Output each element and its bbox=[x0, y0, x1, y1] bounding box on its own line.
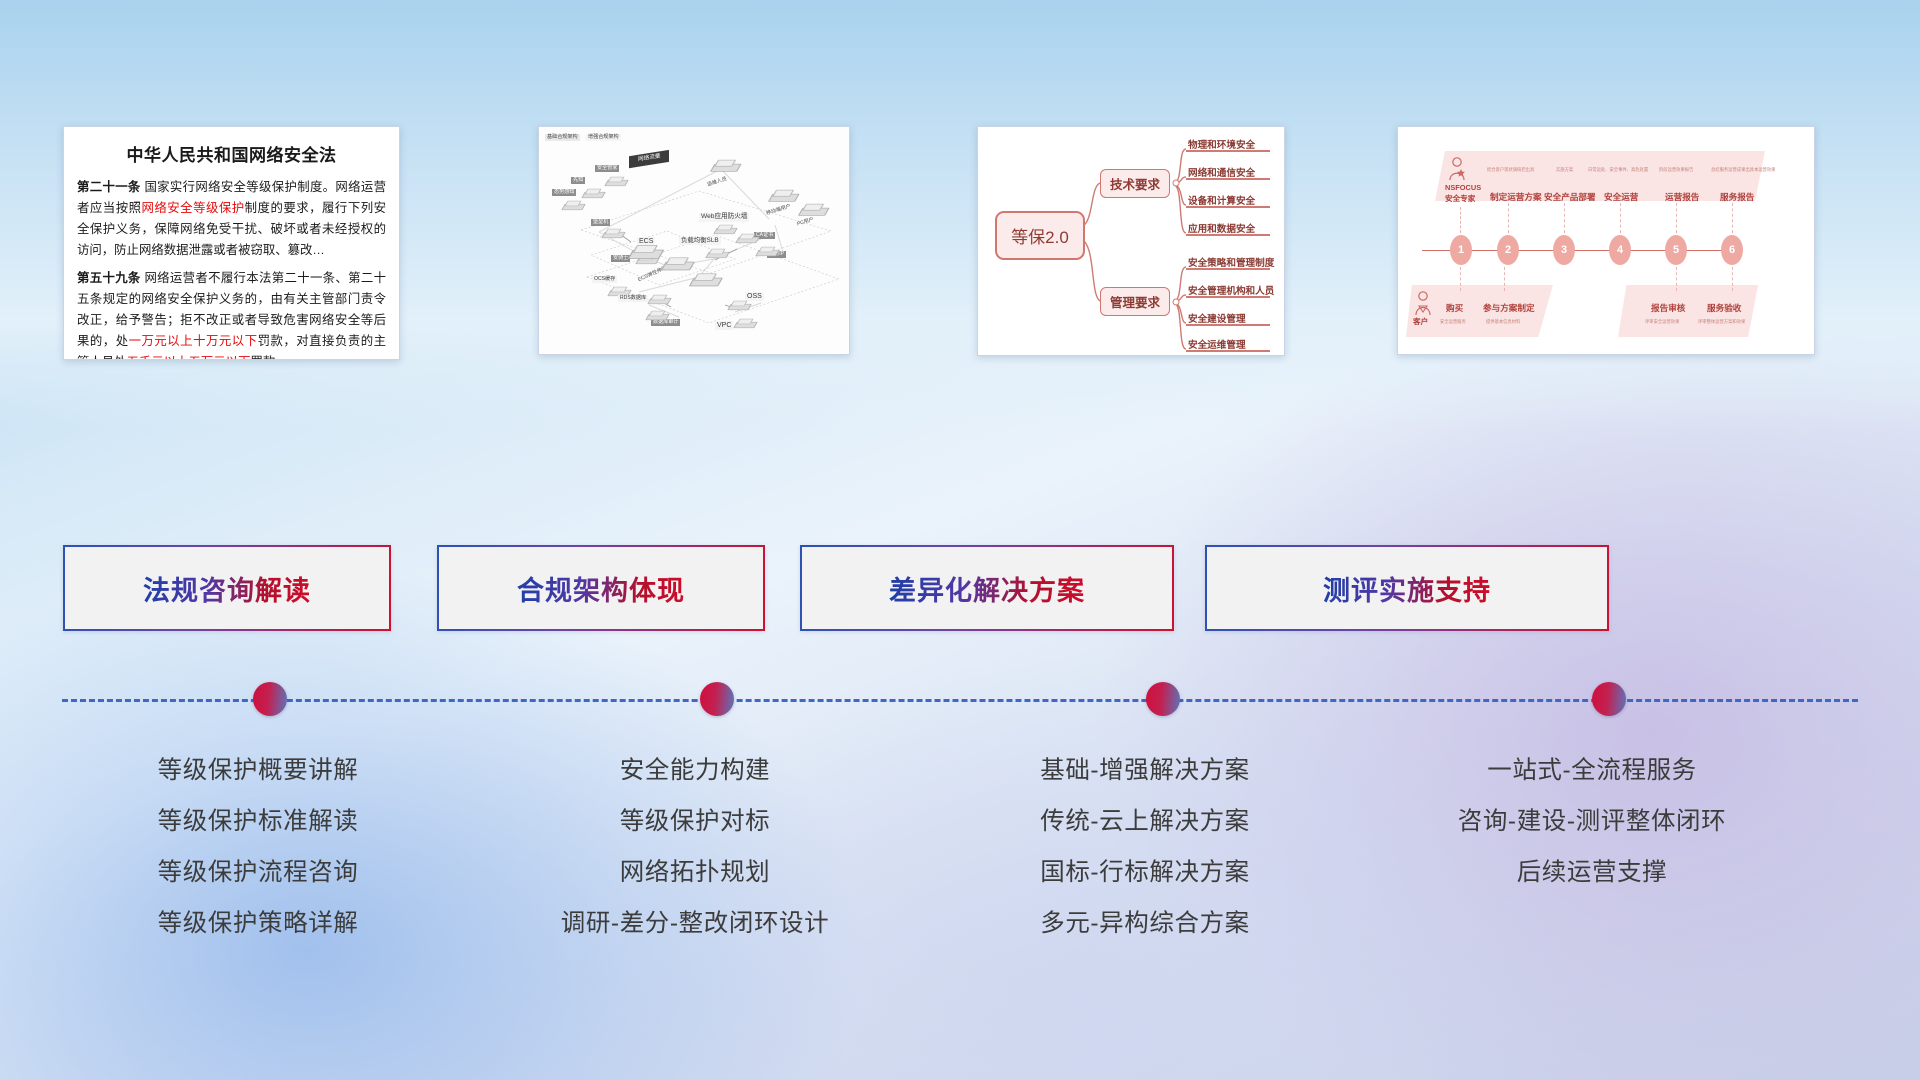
law-article-59-label: 第五十九条 bbox=[77, 271, 141, 285]
arch-node-icon bbox=[737, 232, 756, 243]
reference-cards-row: 中华人民共和国网络安全法 第二十一条 国家实行网络安全等级保护制度。网络运营者应… bbox=[0, 126, 1920, 361]
list-item: 等级保护策略详解 bbox=[63, 898, 453, 949]
mindmap-leaf-underline bbox=[1186, 268, 1270, 270]
nsfocus-step-bubble: 2 bbox=[1497, 235, 1519, 265]
section-list-4: 一站式-全流程服务 咨询-建设-测评整体闭环 后续运营支撑 bbox=[1392, 745, 1792, 898]
law-article-21-highlight: 网络安全等级保护 bbox=[141, 201, 244, 215]
card-nsfocus-service-flow: NSFOCUS 安全专家 客户 结合客户现状调研后出具 制定运营方案 实施方案 … bbox=[1397, 126, 1815, 355]
mindmap-leaf-underline bbox=[1186, 234, 1270, 236]
list-item: 网络拓扑规划 bbox=[500, 847, 890, 898]
nsfocus-top-step-title: 服务报告 bbox=[1720, 191, 1754, 203]
nsfocus-step-bubble: 5 bbox=[1665, 235, 1687, 265]
mindmap-leaf-underline bbox=[1186, 178, 1270, 180]
mindmap-branch-technical: 技术要求 bbox=[1100, 169, 1170, 198]
arch-node-icon bbox=[663, 255, 690, 270]
mindmap-leaf-underline bbox=[1186, 350, 1270, 352]
nsfocus-top-step-title: 安全产品部署 bbox=[1544, 191, 1596, 203]
mindmap-root-node: 等保2.0 bbox=[995, 211, 1085, 260]
list-item: 咨询-建设-测评整体闭环 bbox=[1392, 796, 1792, 847]
list-item: 等级保护标准解读 bbox=[63, 796, 453, 847]
arch-label-slb: 负载均衡SLB bbox=[679, 237, 721, 245]
nsfocus-connector-dash bbox=[1732, 203, 1733, 233]
nsfocus-connector-dash bbox=[1620, 203, 1621, 233]
list-item: 多元-异构综合方案 bbox=[950, 898, 1340, 949]
arch-node-icon bbox=[630, 242, 659, 259]
mindmap-branch-management: 管理要求 bbox=[1100, 287, 1170, 316]
section-title-box-1[interactable]: 法规咨询解读 bbox=[63, 545, 391, 631]
law-body: 中华人民共和国网络安全法 第二十一条 国家实行网络安全等级保护制度。网络运营者应… bbox=[64, 127, 399, 359]
nsfocus-connector-dash bbox=[1460, 267, 1461, 291]
law-article-59-highlight-2: 五千元以上五万元以下 bbox=[127, 355, 251, 360]
mindmap-leaf-underline bbox=[1186, 296, 1270, 298]
nsfocus-bottom-step-sub: 安全运营服务 bbox=[1440, 319, 1466, 325]
mindmap-leaf: 安全建设管理 bbox=[1188, 311, 1246, 325]
arch-node-icon bbox=[583, 187, 602, 198]
arch-node-icon bbox=[606, 175, 625, 186]
nsfocus-top-step-sub: 总结服务运营成果出具本运营效果 bbox=[1711, 167, 1775, 173]
law-article-21-label: 第二十一条 bbox=[77, 180, 141, 194]
section-list-3: 基础-增强解决方案 传统-云上解决方案 国标-行标解决方案 多元-异构综合方案 bbox=[950, 745, 1340, 949]
expert-person-icon bbox=[1448, 156, 1468, 182]
nsfocus-top-step-title: 运营报告 bbox=[1665, 191, 1699, 203]
arch-node-icon bbox=[757, 245, 776, 256]
nsfocus-top-step-sub: 阶段运营效果报告 bbox=[1659, 167, 1693, 173]
nsfocus-expert-band bbox=[1435, 151, 1765, 201]
nsfocus-connector-dash bbox=[1676, 267, 1677, 291]
law-article-21: 第二十一条 国家实行网络安全等级保护制度。网络运营者应当按照网络安全等级保护制度… bbox=[77, 177, 386, 261]
nsfocus-top-step-sub: 实施方案 bbox=[1556, 167, 1573, 173]
arch-node-icon bbox=[735, 317, 754, 328]
law-article-59: 第五十九条 网络运营者不履行本法第二十一条、第二十五条规定的网络安全保护义务的，… bbox=[77, 268, 386, 360]
mindmap-leaf: 安全运维管理 bbox=[1188, 337, 1246, 351]
mindmap-leaf-underline bbox=[1186, 324, 1270, 326]
mindmap-leaf: 安全管理机构和人员 bbox=[1188, 283, 1274, 297]
nsfocus-connector-dash bbox=[1460, 207, 1461, 233]
law-article-59-text3: 罚款。 bbox=[250, 355, 287, 360]
arch-node-icon bbox=[770, 187, 795, 201]
arch-tab-enhanced[interactable]: 增强合规架构 bbox=[586, 134, 621, 141]
timeline-dot-1 bbox=[253, 682, 287, 716]
nsfocus-customer-role: 客户 bbox=[1413, 316, 1428, 327]
law-article-59-highlight-1: 一万元以上十万元以下 bbox=[129, 334, 258, 348]
nsfocus-connector-dash bbox=[1508, 203, 1509, 233]
arch-label-waf: Web应用防火墙 bbox=[699, 213, 749, 222]
section-title-label: 测评实施支持 bbox=[1323, 569, 1491, 608]
timeline-dot-2 bbox=[700, 682, 734, 716]
arch-node-icon bbox=[691, 271, 718, 286]
card-cloud-architecture: 基础合规架构 增强合规架构 网络流量 态势感知 先知 安全管家 堡垒机 安骑士 … bbox=[538, 126, 850, 355]
list-item: 等级保护概要讲解 bbox=[63, 745, 453, 796]
timeline-dot-4 bbox=[1592, 682, 1626, 716]
nsfocus-connector-dash bbox=[1676, 203, 1677, 233]
customer-person-icon bbox=[1414, 290, 1434, 318]
nsfocus-step-bubble: 4 bbox=[1609, 235, 1631, 265]
mindmap-leaf: 应用和数据安全 bbox=[1188, 221, 1255, 235]
arch-label-situational-awareness: 态势感知 bbox=[552, 189, 576, 196]
nsfocus-connector-dash bbox=[1564, 203, 1565, 233]
nsfocus-step-bubble: 1 bbox=[1450, 235, 1472, 265]
section-title-row: 法规咨询解读 合规架构体现 差异化解决方案 测评实施支持 bbox=[0, 545, 1920, 635]
nsfocus-flow-diagram: NSFOCUS 安全专家 客户 结合客户现状调研后出具 制定运营方案 实施方案 … bbox=[1398, 127, 1814, 354]
nsfocus-bottom-step-title: 报告审核 bbox=[1651, 302, 1685, 314]
nsfocus-bottom-step-title: 服务验收 bbox=[1707, 302, 1741, 314]
arch-node-icon bbox=[563, 199, 582, 210]
section-list-2: 安全能力构建 等级保护对标 网络拓扑规划 调研-差分-整改闭环设计 bbox=[500, 745, 890, 949]
mindmap-leaf: 网络和通信安全 bbox=[1188, 165, 1255, 179]
list-item: 传统-云上解决方案 bbox=[950, 796, 1340, 847]
section-title-box-3[interactable]: 差异化解决方案 bbox=[800, 545, 1174, 631]
card-mindmap-dengbao: 等保2.0 技术要求 物理和环境安全 网络和通信安全 设备和计算安全 应用和数据… bbox=[977, 126, 1285, 356]
timeline-dot-3 bbox=[1146, 682, 1180, 716]
section-title-box-4[interactable]: 测评实施支持 bbox=[1205, 545, 1609, 631]
arch-node-icon bbox=[729, 299, 748, 310]
list-item: 等级保护对标 bbox=[500, 796, 890, 847]
section-title-label: 合规架构体现 bbox=[517, 569, 685, 608]
nsfocus-top-step-title: 安全运营 bbox=[1604, 191, 1638, 203]
mindmap-diagram: 等保2.0 技术要求 物理和环境安全 网络和通信安全 设备和计算安全 应用和数据… bbox=[978, 127, 1284, 355]
law-title: 中华人民共和国网络安全法 bbox=[77, 141, 386, 166]
nsfocus-bottom-step-title: 参与方案制定 bbox=[1483, 302, 1535, 314]
list-item: 调研-差分-整改闭环设计 bbox=[500, 898, 890, 949]
list-item: 基础-增强解决方案 bbox=[950, 745, 1340, 796]
arch-node-icon bbox=[715, 223, 734, 234]
arch-node-icon bbox=[647, 309, 666, 320]
section-list-1: 等级保护概要讲解 等级保护标准解读 等级保护流程咨询 等级保护策略详解 bbox=[63, 745, 453, 949]
arch-node-icon bbox=[649, 293, 668, 304]
nsfocus-top-step-sub: 结合客户现状调研后出具 bbox=[1487, 167, 1534, 173]
arch-label-xianzhi: 先知 bbox=[571, 177, 585, 184]
arch-tab-basic[interactable]: 基础合规架构 bbox=[545, 134, 580, 141]
arch-node-icon bbox=[712, 157, 737, 171]
nsfocus-connector-dash bbox=[1504, 267, 1505, 291]
architecture-diagram: 基础合规架构 增强合规架构 网络流量 态势感知 先知 安全管家 堡垒机 安骑士 … bbox=[539, 127, 849, 354]
arch-label-security-butler: 安全管家 bbox=[595, 165, 619, 172]
list-item: 后续运营支撑 bbox=[1392, 847, 1792, 898]
list-item: 等级保护流程咨询 bbox=[63, 847, 453, 898]
card-cybersecurity-law: 中华人民共和国网络安全法 第二十一条 国家实行网络安全等级保护制度。网络运营者应… bbox=[63, 126, 400, 360]
nsfocus-step-bubble: 6 bbox=[1721, 235, 1743, 265]
nsfocus-bottom-step-sub: 评审安全运营效果 bbox=[1645, 319, 1679, 325]
nsfocus-expert-brand: NSFOCUS bbox=[1445, 183, 1481, 192]
nsfocus-top-step-sub: 日常运处、安全事件、高危处置 bbox=[1588, 167, 1648, 173]
mindmap-leaf: 物理和环境安全 bbox=[1188, 137, 1255, 151]
arch-node-icon bbox=[800, 201, 825, 215]
arch-node-icon bbox=[603, 227, 622, 238]
arch-label-bastion-host: 堡垒机 bbox=[591, 219, 610, 226]
list-item: 一站式-全流程服务 bbox=[1392, 745, 1792, 796]
mindmap-leaf: 设备和计算安全 bbox=[1188, 193, 1255, 207]
list-item: 国标-行标解决方案 bbox=[950, 847, 1340, 898]
nsfocus-connector-dash bbox=[1732, 267, 1733, 291]
nsfocus-step-bubble: 3 bbox=[1553, 235, 1575, 265]
nsfocus-expert-role: 安全专家 bbox=[1445, 193, 1475, 204]
nsfocus-bottom-step-sub: 评审整体运营方案和效果 bbox=[1698, 319, 1745, 325]
arch-label-vpc: VPC bbox=[715, 321, 733, 330]
section-title-label: 法规咨询解读 bbox=[143, 569, 311, 608]
dashed-timeline bbox=[62, 699, 1858, 702]
mindmap-leaf-underline bbox=[1186, 150, 1270, 152]
list-item: 安全能力构建 bbox=[500, 745, 890, 796]
arch-label-rds-db: RDS数据库 bbox=[618, 295, 648, 302]
section-title-box-2[interactable]: 合规架构体现 bbox=[437, 545, 765, 631]
nsfocus-top-step-title: 制定运营方案 bbox=[1490, 191, 1542, 203]
arch-label-ocs-cache: OCS缓存 bbox=[592, 276, 617, 283]
nsfocus-bottom-step-title: 购买 bbox=[1446, 302, 1463, 314]
mindmap-leaf: 安全策略和管理制度 bbox=[1188, 255, 1274, 269]
mindmap-leaf-underline bbox=[1186, 206, 1270, 208]
nsfocus-bottom-step-sub: 提供基本信息材料 bbox=[1486, 319, 1520, 325]
section-title-label: 差异化解决方案 bbox=[889, 569, 1085, 608]
arch-node-icon bbox=[707, 247, 726, 258]
